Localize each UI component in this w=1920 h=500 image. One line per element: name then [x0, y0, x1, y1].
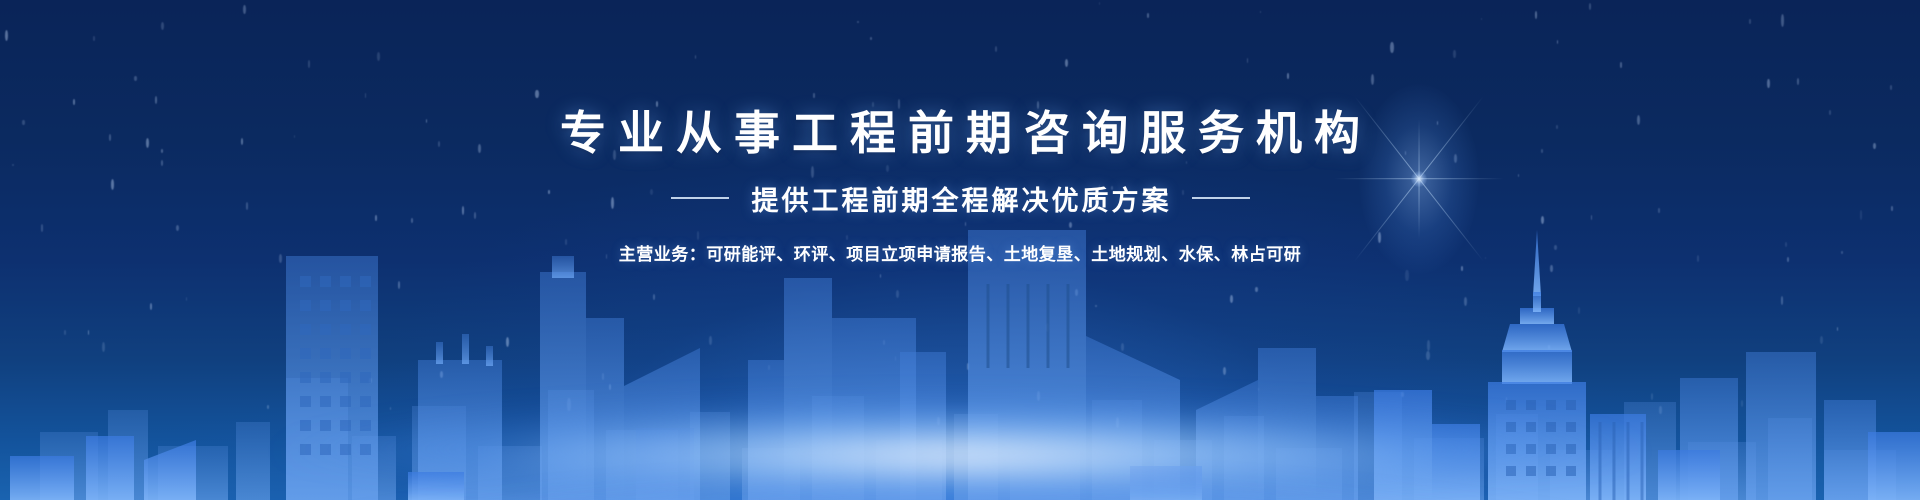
- divider-left-icon: [671, 197, 729, 199]
- banner-main-title: 专业从事工程前期咨询服务机构: [0, 108, 1920, 159]
- hero-banner: 专业从事工程前期咨询服务机构 提供工程前期全程解决优质方案 主营业务：可研能评、…: [0, 0, 1920, 500]
- banner-copy: 专业从事工程前期咨询服务机构 提供工程前期全程解决优质方案 主营业务：可研能评、…: [0, 0, 1920, 265]
- banner-business-line: 主营业务：可研能评、环评、项目立项申请报告、土地复垦、土地规划、水保、林占可研: [0, 240, 1920, 265]
- banner-subtitle-row: 提供工程前期全程解决优质方案: [0, 179, 1920, 218]
- divider-right-icon: [1192, 197, 1250, 199]
- banner-sub-title: 提供工程前期全程解决优质方案: [749, 179, 1172, 218]
